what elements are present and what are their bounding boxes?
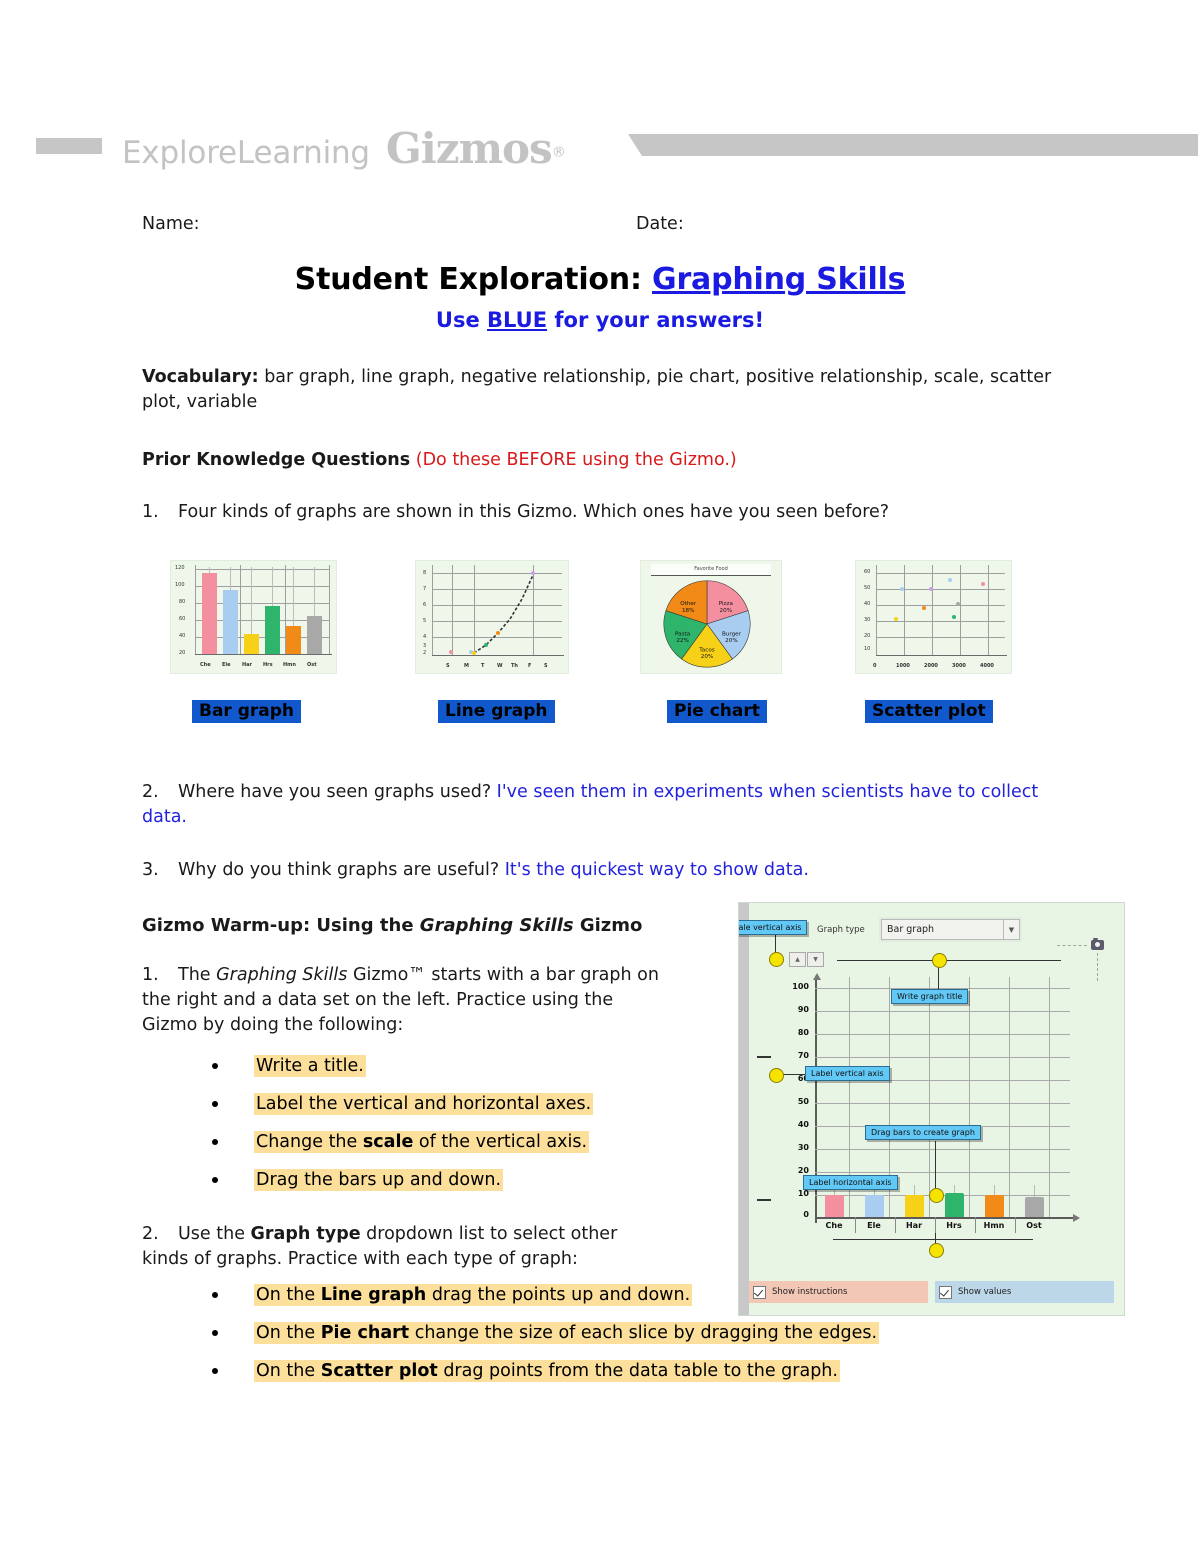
bullet-icon [212,1368,218,1374]
bar-har[interactable] [905,1195,924,1217]
page-title: Student Exploration: Graphing Skills [0,262,1200,297]
question-3-number: 3. [142,858,178,883]
y-tick-50: 50 [777,1097,809,1106]
list-item: On the Scatter plot drag points from the… [212,1358,879,1396]
svg-text:Burger: Burger [722,631,742,637]
callout-scale-vertical-axis: Scale vertical axis [738,920,807,935]
y-axis-arrow [813,973,821,980]
prior-knowledge-note: (Do these BEFORE using the Gizmo.) [410,450,737,470]
logo-bar-right [628,134,1198,156]
question-1-number: 1. [142,500,178,525]
list-item: Change the scale of the vertical axis. [212,1129,593,1167]
scale-axis-knob[interactable] [769,952,784,967]
page-title-link[interactable]: Graphing Skills [652,262,905,297]
svg-text:Other: Other [680,601,697,607]
line-graph-curve [416,561,568,673]
callout-label-vertical-axis: Label vertical axis [805,1066,890,1081]
warmup-item-1-number: 1. [142,963,178,988]
bullet-icon [212,1139,218,1145]
warmup-item-1-bullets: Write a title. Label the vertical and ho… [212,1053,593,1205]
svg-text:22%: 22% [676,638,689,644]
pie-chart-svg: Pizza 20% Burger 20% Tacos 20% Pasta 22%… [645,577,769,671]
page-title-prefix: Student Exploration: [295,262,652,297]
callout-leader [935,1141,936,1191]
list-item: Label the vertical and horizontal axes. [212,1091,593,1129]
checkbox-icon[interactable] [753,1286,766,1299]
logo-explorelearning-text: ExploreLearning [122,135,370,171]
show-instructions-checkbox[interactable]: Show instructions [749,1281,928,1303]
svg-text:20%: 20% [720,608,733,614]
bar-hrs[interactable] [945,1193,964,1217]
y-tick-20: 20 [777,1166,809,1175]
logo-wordmark: ExploreLearningGizmos® [122,124,566,173]
question-3: 3.Why do you think graphs are useful? It… [142,858,1062,883]
checkbox-icon[interactable] [939,1286,952,1299]
label-vertical-axis-knob[interactable] [769,1068,784,1083]
gizmo-warmup-heading: Gizmo Warm-up: Using the Graphing Skills… [142,913,642,938]
date-field-label: Date: [636,212,684,237]
svg-text:20%: 20% [725,638,738,644]
show-values-checkbox[interactable]: Show values [935,1281,1114,1303]
scale-up-button[interactable]: ▲ [789,952,806,967]
y-tick-40: 40 [777,1120,809,1129]
bullet-text: On the Scatter plot drag points from the… [254,1360,840,1382]
svg-text:Tacos: Tacos [698,647,714,653]
x-label-ost: Ost [1019,1221,1049,1230]
list-item: On the Pie chart change the size of each… [212,1320,879,1358]
logo-gizmos-text: Gizmos [386,124,552,173]
x-label-hmn: Hmn [979,1221,1009,1230]
thumbnail-pie-chart: Favorite Food Pizza 20% Burger 20% Tacos… [640,560,782,674]
vocabulary-terms: bar graph, line graph, negative relation… [142,367,1051,412]
graph-title-knob[interactable] [932,953,947,968]
line-graph-preview: 8 7 6 5 4 3 2 S M T W Th F S [415,560,569,674]
x-label-ele: Ele [859,1221,889,1230]
callout-drag-bars: Drag bars to create graph [865,1125,981,1140]
warmup-item-2-number: 2. [142,1222,178,1247]
scatter-plot-preview: 60 50 40 30 20 10 0 1000 2000 3000 4000 [855,560,1012,674]
bar-hmn[interactable] [985,1195,1004,1217]
label-horizontal-axis-knob[interactable] [929,1243,944,1258]
graph-type-label: Graph type [817,925,865,935]
drag-bars-knob[interactable] [929,1188,944,1203]
y-tick-80: 80 [777,1028,809,1037]
show-values-label: Show values [958,1287,1011,1297]
question-2-text: Where have you seen graphs used? [178,782,497,802]
vocabulary-block: Vocabulary: bar graph, line graph, negat… [142,365,1052,415]
warmup-item-2: 2.Use the Graph type dropdown list to se… [142,1222,662,1272]
bar-ost[interactable] [1025,1197,1044,1217]
question-2-number: 2. [142,780,178,805]
thumbnail-bar-graph: 120 100 80 60 40 20 Che Ele Har Hrs Hmn [170,560,337,674]
bar-ele[interactable] [865,1195,884,1217]
chevron-down-icon[interactable]: ▼ [1003,920,1019,939]
x-label-hrs: Hrs [939,1221,969,1230]
thumbnail-caption-scatter-plot: Scatter plot [865,700,993,723]
svg-text:Pasta: Pasta [675,631,690,637]
bullet-icon [212,1330,218,1336]
x-label-che: Che [819,1221,849,1230]
registered-mark: ® [552,145,566,161]
warmup-item-2-pre: Use the [178,1224,251,1244]
svg-text:20%: 20% [701,654,714,660]
x-axis-line [815,1217,1073,1219]
question-2: 2.Where have you seen graphs used? I've … [142,780,1062,830]
graph-thumbnail-row: 120 100 80 60 40 20 Che Ele Har Hrs Hmn [0,560,1200,735]
bullet-text: Drag the bars up and down. [254,1169,503,1191]
show-instructions-label: Show instructions [772,1287,847,1297]
bullet-text: On the Pie chart change the size of each… [254,1322,879,1344]
callout-label-horizontal-axis: Label horizontal axis [803,1175,898,1190]
thumbnail-scatter-plot: 60 50 40 30 20 10 0 1000 2000 3000 4000 … [855,560,1012,674]
camera-leader [1057,945,1087,946]
vocabulary-label: Vocabulary: [142,367,259,387]
camera-icon[interactable] [1091,940,1104,950]
subtitle-pre: Use [436,308,487,332]
bar-che[interactable] [825,1195,844,1217]
bullet-icon [212,1101,218,1107]
y-tick-10: 10 [777,1189,809,1198]
x-label-har: Har [899,1221,929,1230]
svg-text:18%: 18% [682,608,695,614]
prior-knowledge-heading: Prior Knowledge Questions (Do these BEFO… [142,448,1042,473]
y-tick-70: 70 [777,1051,809,1060]
warmup-heading-italic: Graphing Skills [420,915,574,936]
bullet-icon [212,1292,218,1298]
y-tick-0: 0 [777,1210,809,1219]
pie-chart-preview: Favorite Food Pizza 20% Burger 20% Tacos… [640,560,782,674]
thumbnail-caption-pie-chart: Pie chart [667,700,767,723]
thumbnail-caption-line-graph: Line graph [438,700,555,723]
thumbnail-line-graph: 8 7 6 5 4 3 2 S M T W Th F S Line graph [415,560,569,674]
question-3-text: Why do you think graphs are useful? [178,860,505,880]
subtitle-post: for your answers! [547,308,764,332]
graph-type-value: Bar graph [887,924,934,935]
svg-text:Pizza: Pizza [719,601,733,607]
bar-graph-preview: 120 100 80 60 40 20 Che Ele Har Hrs Hmn [170,560,337,674]
question-3-answer[interactable]: It's the quickest way to show data. [505,860,809,880]
graph-title-rule [837,960,1061,961]
prior-knowledge-title: Prior Knowledge Questions [142,450,410,470]
bullet-text: Change the scale of the vertical axis. [254,1131,589,1153]
thumbnail-caption-bar-graph: Bar graph [192,700,301,723]
camera-leader-v [1097,953,1098,981]
gizmo-left-rail [739,903,749,1315]
y-tick-30: 30 [777,1143,809,1152]
y-tick-100: 100 [777,982,809,991]
graph-type-select[interactable]: Bar graph ▼ [881,919,1020,940]
bullet-icon [212,1177,218,1183]
gizmo-screenshot: Graph type Bar graph ▼ Scale vertical ax… [738,902,1125,1316]
list-item: Drag the bars up and down. [212,1167,593,1205]
warmup-item-2-bold: Graph type [251,1224,361,1244]
name-field-label: Name: [142,212,200,237]
bullet-icon [212,1063,218,1069]
warmup-item-1-pre: The [178,965,216,985]
page-subtitle: Use BLUE for your answers! [0,308,1200,332]
bullet-text: On the Line graph drag the points up and… [254,1284,692,1306]
bullet-text: Write a title. [254,1055,366,1077]
scale-down-button[interactable]: ▼ [807,952,824,967]
warmup-item-1: 1.The Graphing Skills Gizmo™ starts with… [142,963,662,1038]
x-axis-label-rule [833,1239,1033,1240]
bullet-text: Label the vertical and horizontal axes. [254,1093,593,1115]
warmup-heading-post: Gizmo [574,915,643,936]
y-tick-90: 90 [777,1005,809,1014]
x-axis-arrow [1073,1214,1080,1222]
list-item: Write a title. [212,1053,593,1091]
brand-header: ExploreLearningGizmos® [36,128,1166,162]
logo-bar-left [36,138,102,154]
question-1: 1.Four kinds of graphs are shown in this… [142,500,1042,525]
callout-write-graph-title: Write graph title [891,989,968,1004]
warmup-heading-pre: Gizmo Warm-up: Using the [142,915,420,936]
warmup-item-1-italic: Graphing Skills [216,965,347,985]
subtitle-blue-word: BLUE [487,308,547,332]
question-1-text: Four kinds of graphs are shown in this G… [178,502,889,522]
